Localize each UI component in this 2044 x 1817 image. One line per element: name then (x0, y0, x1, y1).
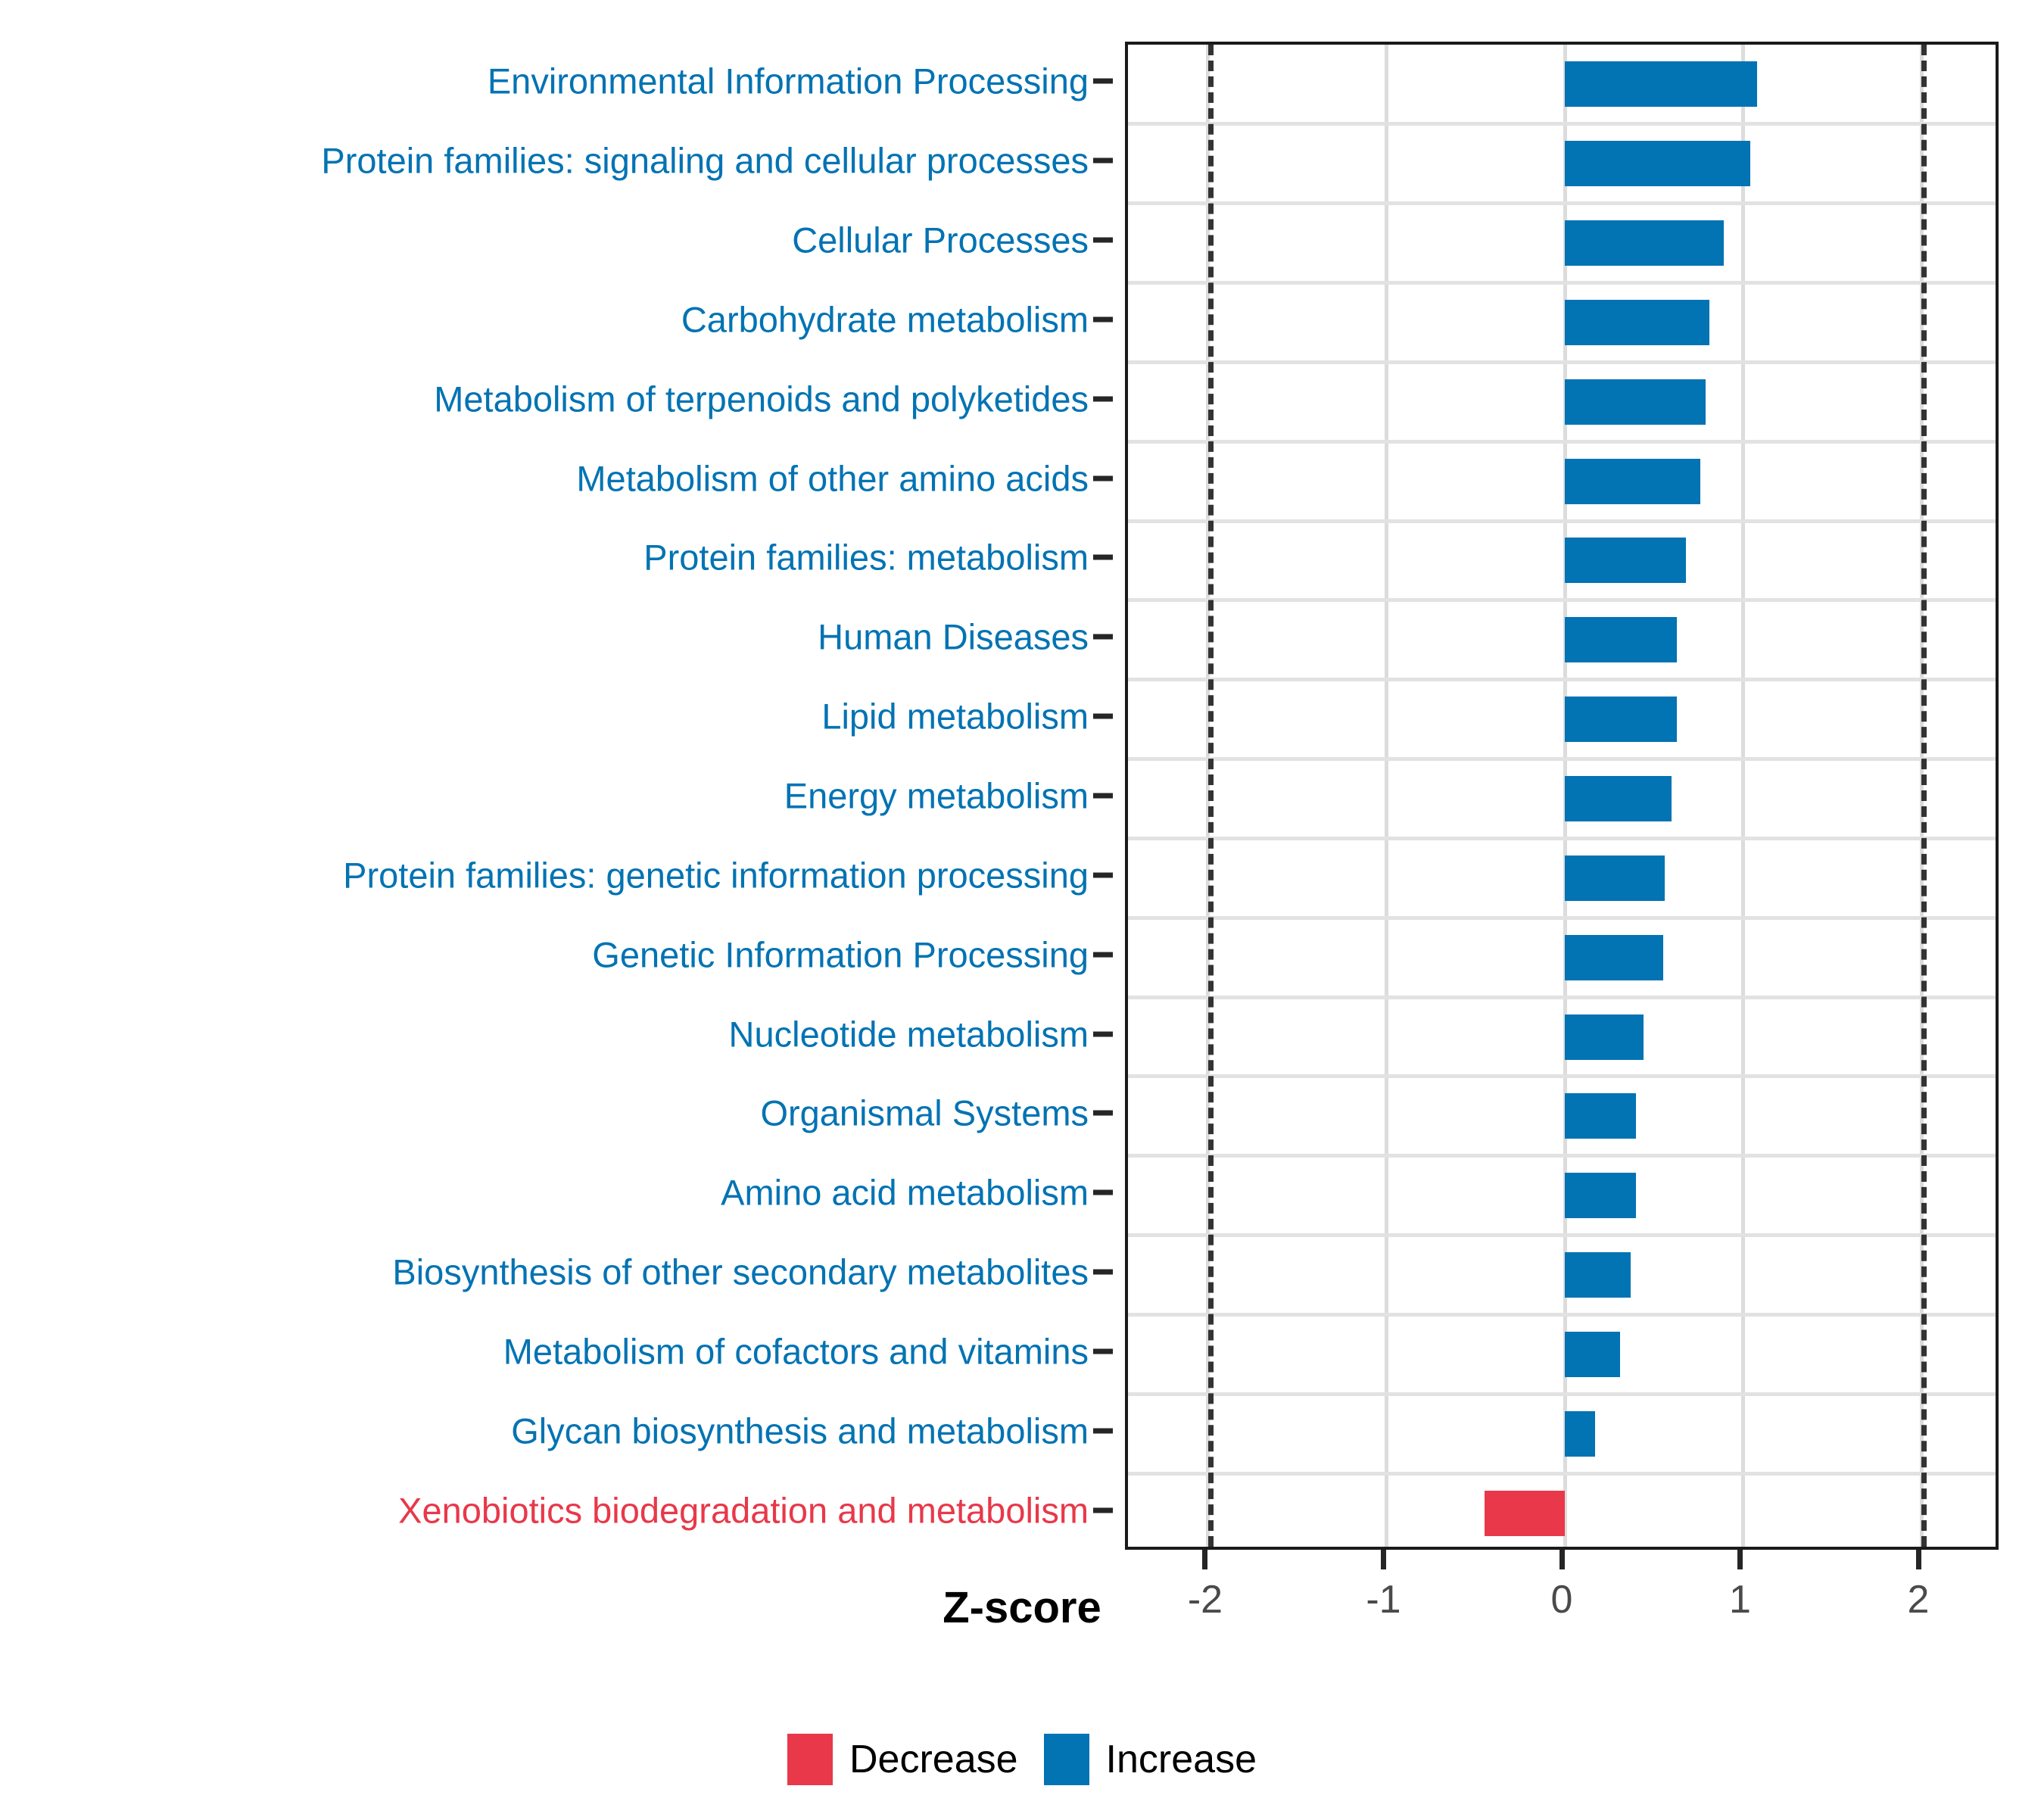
y-axis-category-label: Metabolism of other amino acids (576, 460, 1089, 496)
y-axis-category-label: Genetic Information Processing (592, 937, 1089, 972)
y-axis-tick (1093, 79, 1113, 84)
bar (1565, 776, 1672, 821)
legend: DecreaseIncrease (0, 1734, 2044, 1785)
y-axis-category-label: Carbohydrate metabolism (681, 301, 1089, 337)
legend-label: Decrease (849, 1737, 1018, 1782)
x-axis-title: Z-score (0, 1582, 2044, 1633)
legend-label: Increase (1106, 1737, 1257, 1782)
bar (1565, 1014, 1644, 1060)
plot-panel (1125, 42, 1999, 1550)
bar (1565, 856, 1665, 901)
y-axis-tick (1093, 238, 1113, 243)
bar (1565, 61, 1757, 107)
gridline-horizontal (1128, 996, 1996, 999)
reference-line (1921, 45, 1927, 1547)
bar (1565, 220, 1724, 266)
gridline-vertical (1385, 45, 1388, 1547)
legend-swatch-icon (1044, 1734, 1089, 1785)
bar (1565, 1173, 1636, 1218)
gridline-horizontal (1128, 598, 1996, 602)
y-axis-tick (1093, 396, 1113, 401)
y-axis-category-label: Cellular Processes (792, 223, 1089, 258)
gridline-horizontal (1128, 201, 1996, 205)
chart-figure: Environmental Information ProcessingProt… (0, 0, 2044, 1817)
y-axis-category-label: Protein families: signaling and cellular… (321, 143, 1089, 179)
gridline-horizontal (1128, 519, 1996, 523)
x-axis-tick (1737, 1550, 1743, 1569)
gridline-horizontal (1128, 360, 1996, 364)
gridline-horizontal (1128, 837, 1996, 840)
y-axis-tick (1093, 555, 1113, 560)
y-axis-category-label: Human Diseases (818, 619, 1089, 655)
gridline-horizontal (1128, 1154, 1996, 1158)
legend-swatch-icon (787, 1734, 833, 1785)
y-axis-category-label: Amino acid metabolism (721, 1175, 1089, 1211)
bar (1565, 1093, 1636, 1139)
bar (1565, 459, 1700, 504)
x-axis-tick (1559, 1550, 1565, 1569)
gridline-horizontal (1128, 678, 1996, 681)
y-axis-tick (1093, 714, 1113, 719)
y-axis-tick (1093, 316, 1113, 322)
y-axis-labels: Environmental Information ProcessingProt… (0, 42, 1125, 1550)
y-axis-tick (1093, 158, 1113, 164)
gridline-horizontal (1128, 1392, 1996, 1396)
y-axis-tick (1093, 634, 1113, 640)
y-axis-tick (1093, 1111, 1113, 1116)
bar (1565, 1411, 1595, 1457)
x-axis-tick (1916, 1550, 1921, 1569)
bar (1565, 697, 1677, 742)
gridline-horizontal (1128, 757, 1996, 761)
y-axis-tick (1093, 872, 1113, 877)
y-axis-category-label: Energy metabolism (784, 778, 1089, 814)
y-axis-category-label: Metabolism of terpenoids and polyketides (434, 381, 1089, 416)
y-axis-tick (1093, 793, 1113, 799)
y-axis-tick (1093, 1031, 1113, 1036)
x-axis-tick (1202, 1550, 1207, 1569)
y-axis-tick (1093, 1190, 1113, 1195)
y-axis-tick (1093, 1270, 1113, 1275)
legend-item[interactable]: Decrease (787, 1734, 1018, 1785)
y-axis-category-label: Biosynthesis of other secondary metaboli… (392, 1254, 1089, 1290)
y-axis-category-label: Metabolism of cofactors and vitamins (503, 1333, 1089, 1369)
x-axis-tick (1381, 1550, 1386, 1569)
y-axis-category-label: Organismal Systems (760, 1095, 1089, 1131)
y-axis-tick (1093, 1348, 1113, 1354)
bar (1485, 1491, 1565, 1536)
bar (1565, 617, 1677, 662)
y-axis-category-label: Xenobiotics biodegradation and metabolis… (398, 1492, 1089, 1528)
bar (1565, 1252, 1631, 1298)
bar (1565, 141, 1750, 186)
y-axis-tick (1093, 1428, 1113, 1433)
gridline-horizontal (1128, 122, 1996, 126)
gridline-horizontal (1128, 916, 1996, 920)
y-axis-category-label: Protein families: metabolism (643, 540, 1089, 575)
y-axis-category-label: Environmental Information Processing (488, 64, 1089, 99)
gridline-vertical (1741, 45, 1745, 1547)
gridline-horizontal (1128, 1472, 1996, 1476)
bar (1565, 379, 1706, 425)
bar (1565, 935, 1663, 980)
bar (1565, 300, 1709, 345)
gridline-horizontal (1128, 1233, 1996, 1237)
y-axis-category-label: Protein families: genetic information pr… (343, 857, 1089, 893)
y-axis-tick (1093, 475, 1113, 481)
y-axis-category-label: Glycan biosynthesis and metabolism (511, 1413, 1089, 1448)
y-axis-tick (1093, 1507, 1113, 1513)
y-axis-tick (1093, 952, 1113, 957)
bar (1565, 1332, 1620, 1377)
legend-item[interactable]: Increase (1044, 1734, 1257, 1785)
reference-line (1208, 45, 1214, 1547)
gridline-horizontal (1128, 1313, 1996, 1317)
bar (1565, 538, 1686, 583)
gridline-horizontal (1128, 281, 1996, 285)
y-axis-category-label: Lipid metabolism (821, 699, 1089, 734)
y-axis-category-label: Nucleotide metabolism (729, 1016, 1089, 1052)
gridline-horizontal (1128, 440, 1996, 444)
gridline-horizontal (1128, 1074, 1996, 1078)
